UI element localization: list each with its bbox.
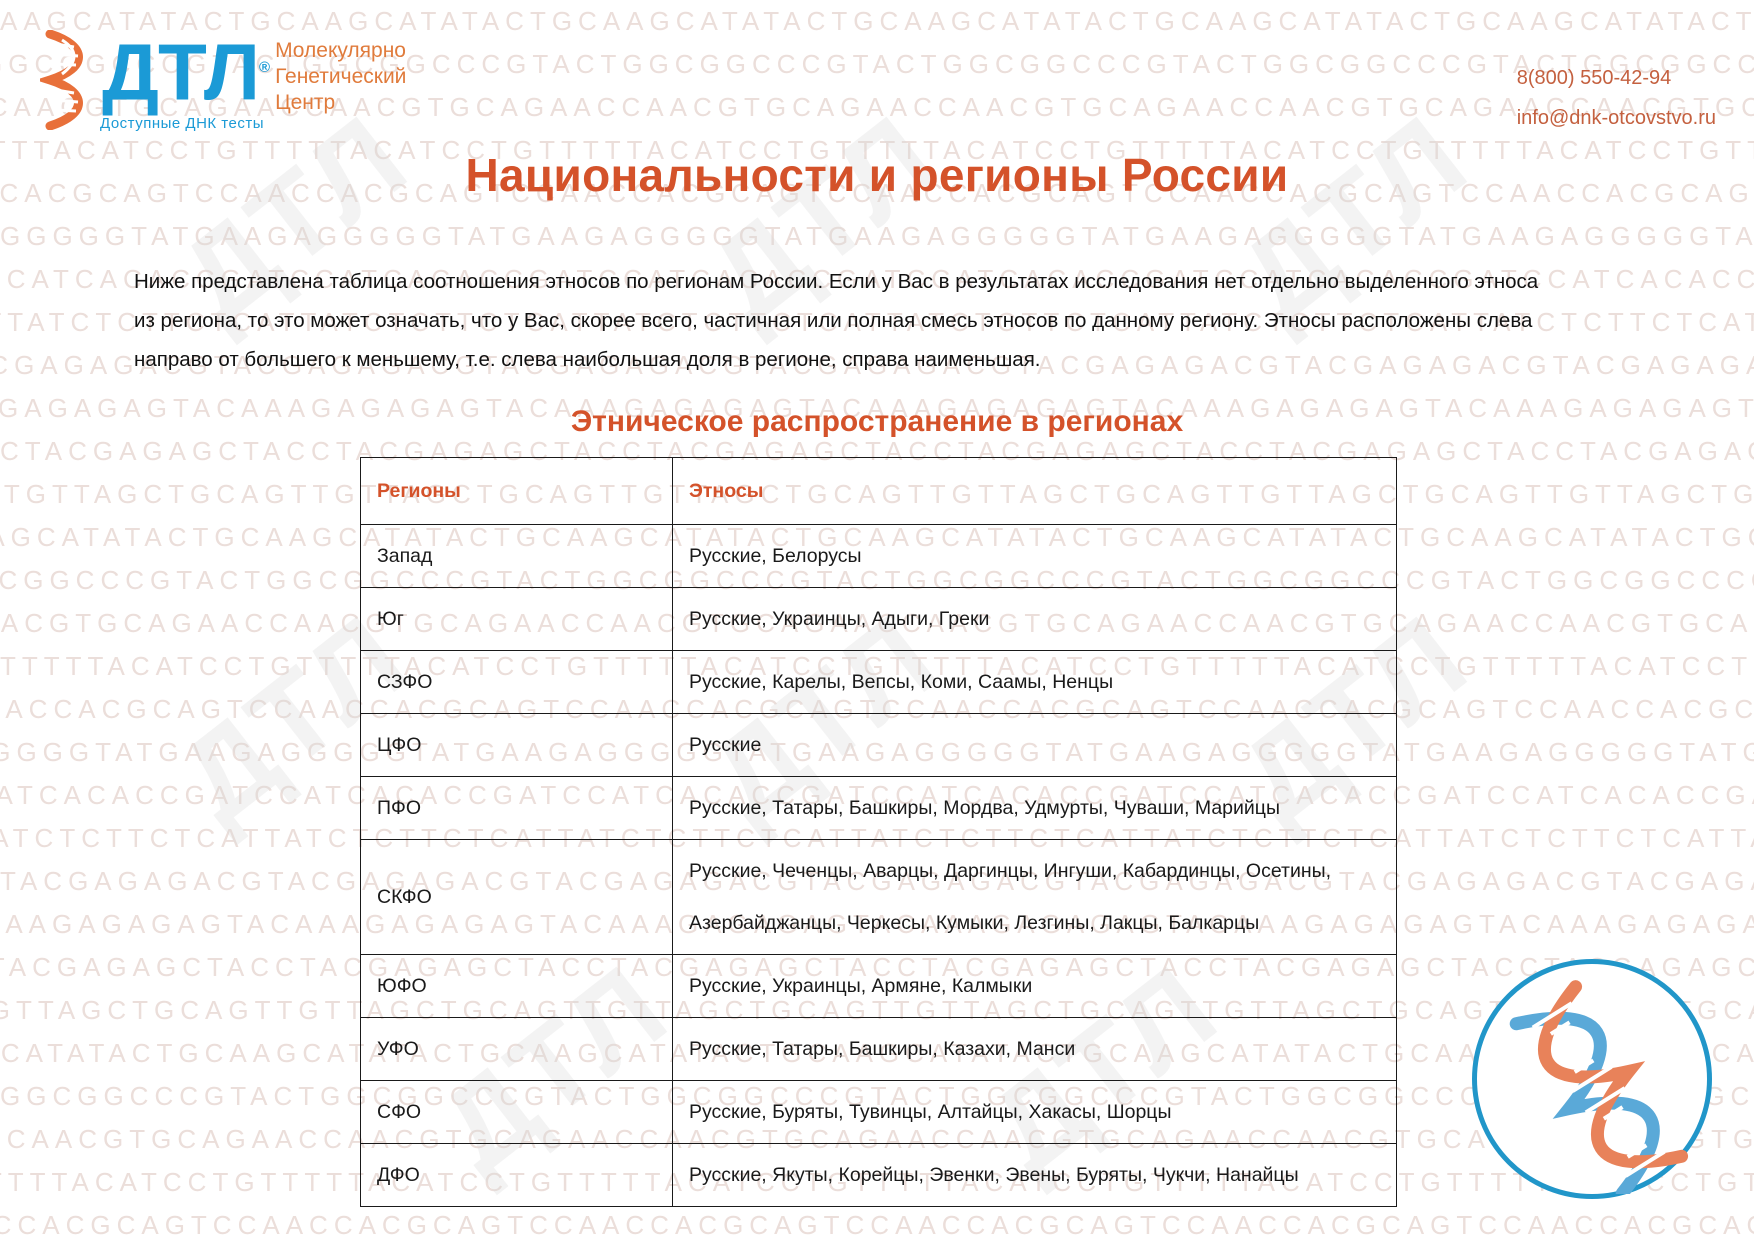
table-row: ПФОРусские, Татары, Башкиры, Мордва, Удм… (361, 777, 1397, 840)
cell-ethnos: Русские, Чеченцы, Аварцы, Даргинцы, Ингу… (673, 840, 1397, 955)
table-row: ЮФОРусские, Украинцы, Армяне, Калмыки (361, 955, 1397, 1018)
cell-ethnos-line-2: Азербайджанцы, Черкесы, Кумыки, Лезгины,… (689, 908, 1382, 938)
regions-ethnos-table: Регионы Этносы ЗападРусские, БелорусыЮгР… (360, 457, 1397, 1207)
cell-ethnos: Русские, Буряты, Тувинцы, Алтайцы, Хакас… (673, 1081, 1397, 1144)
cell-region: СЗФО (361, 651, 673, 714)
cell-ethnos-line-1: Русские, Чеченцы, Аварцы, Даргинцы, Ингу… (689, 856, 1382, 886)
cell-region: УФО (361, 1018, 673, 1081)
cell-ethnos: Русские, Татары, Башкиры, Мордва, Удмурт… (673, 777, 1397, 840)
intro-paragraph: Ниже представлена таблица соотношения эт… (134, 262, 1559, 379)
logo-brand-text: ДТЛ® (102, 30, 269, 111)
cell-ethnos: Русские, Якуты, Корейцы, Эвенки, Эвены, … (673, 1144, 1397, 1207)
table-row: СФОРусские, Буряты, Тувинцы, Алтайцы, Ха… (361, 1081, 1397, 1144)
cell-region: СФО (361, 1081, 673, 1144)
logo-tagline: Доступные ДНК тесты (100, 115, 264, 132)
cell-region: ЮФО (361, 955, 673, 1018)
table-row: ДФОРусские, Якуты, Корейцы, Эвенки, Эвен… (361, 1144, 1397, 1207)
logo-subtitle-line-1: Молекулярно (275, 38, 406, 64)
cell-region: ЦФО (361, 714, 673, 777)
phone-number[interactable]: 8(800) 550-42-94 (1517, 58, 1716, 98)
logo-subtitle-line-2: Генетический (275, 64, 406, 90)
cell-region: ДФО (361, 1144, 673, 1207)
table-row: ЗападРусские, Белорусы (361, 525, 1397, 588)
logo-subtitle-line-3: Центр (275, 90, 406, 116)
email-address[interactable]: info@dnk-otcovstvo.ru (1517, 98, 1716, 138)
page-header: ДТЛ® Молекулярно Генетический Центр Дост… (0, 0, 1754, 150)
trademark-symbol: ® (259, 59, 269, 76)
table-header-row: Регионы Этносы (361, 458, 1397, 525)
table-row: УФОРусские, Татары, Башкиры, Казахи, Ман… (361, 1018, 1397, 1081)
dna-helix-icon (40, 30, 102, 130)
logo-subtitle: Молекулярно Генетический Центр (275, 38, 406, 116)
table-row: СКФОРусские, Чеченцы, Аварцы, Даргинцы, … (361, 840, 1397, 955)
cell-ethnos: Русские, Украинцы, Армяне, Калмыки (673, 955, 1397, 1018)
cell-region: СКФО (361, 840, 673, 955)
table-row: ЦФОРусские (361, 714, 1397, 777)
contact-info: 8(800) 550-42-94 info@dnk-otcovstvo.ru (1517, 58, 1716, 138)
cell-ethnos: Русские, Украинцы, Адыги, Греки (673, 588, 1397, 651)
cell-ethnos: Русские, Карелы, Вепсы, Коми, Саамы, Нен… (673, 651, 1397, 714)
cell-region: Запад (361, 525, 673, 588)
page-title: Национальности и регионы России (0, 148, 1754, 202)
section-title: Этническое распространение в регионах (0, 405, 1754, 439)
column-header-regions: Регионы (361, 458, 673, 525)
cell-region: Юг (361, 588, 673, 651)
cell-ethnos: Русские (673, 714, 1397, 777)
table-row: СЗФОРусские, Карелы, Вепсы, Коми, Саамы,… (361, 651, 1397, 714)
column-header-ethnos: Этносы (673, 458, 1397, 525)
cell-ethnos: Русские, Белорусы (673, 525, 1397, 588)
cell-region: ПФО (361, 777, 673, 840)
cell-ethnos: Русские, Татары, Башкиры, Казахи, Манси (673, 1018, 1397, 1081)
dna-circle-badge (1472, 959, 1712, 1199)
regions-table-container: Регионы Этносы ЗападРусские, БелорусыЮгР… (360, 457, 1396, 1207)
table-row: ЮгРусские, Украинцы, Адыги, Греки (361, 588, 1397, 651)
